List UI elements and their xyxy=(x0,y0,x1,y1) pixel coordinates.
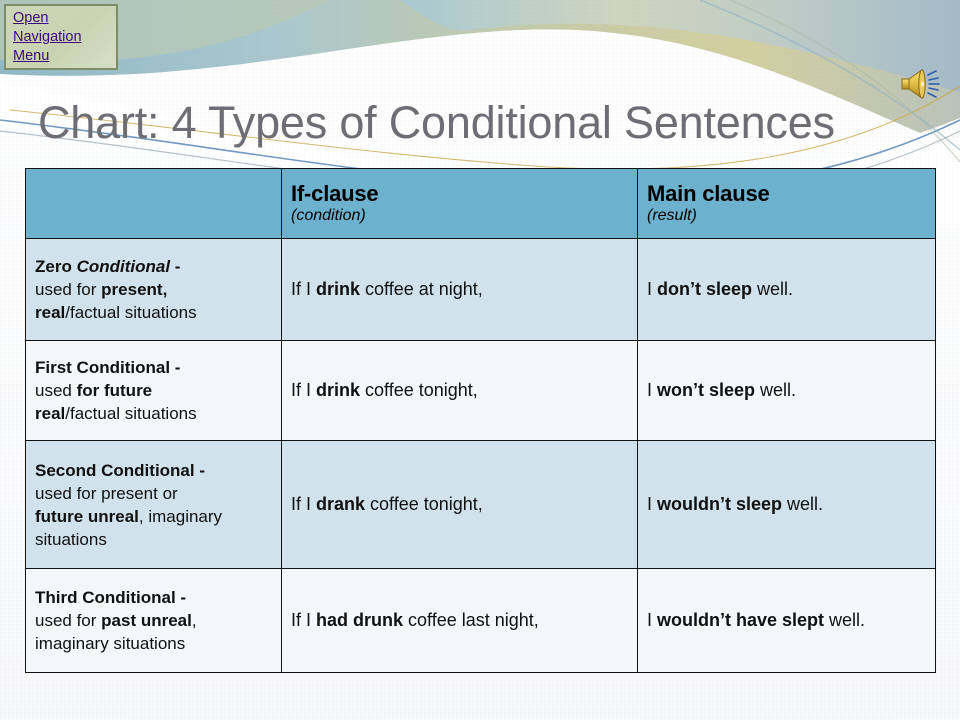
nav-label-line-3[interactable]: Menu xyxy=(13,47,116,66)
table-header: If-clause (condition) Main clause (resul… xyxy=(26,169,936,239)
speaker-icon[interactable] xyxy=(898,64,944,104)
header-if-clause-main: If-clause xyxy=(291,181,628,206)
main-bold: don’t sleep xyxy=(657,279,752,299)
table-row: Zero Conditional - used for present, rea… xyxy=(26,239,936,341)
header-main-clause-sub: (result) xyxy=(647,206,926,226)
slide-canvas: Open Navigation Menu Chart: 4 Types of C… xyxy=(0,0,960,720)
cell-type-first: First Conditional - used for future real… xyxy=(26,341,282,441)
table-row: First Conditional - used for future real… xyxy=(26,341,936,441)
if-bold: drank xyxy=(316,494,365,514)
table-row: Third Conditional - used for past unreal… xyxy=(26,569,936,673)
cell-if-clause-second: If I drank coffee tonight, xyxy=(282,441,638,569)
main-pre: I xyxy=(647,610,657,630)
cell-main-clause-zero: I don’t sleep well. xyxy=(638,239,936,341)
if-post: coffee tonight, xyxy=(365,494,483,514)
cell-main-clause-third: I wouldn’t have slept well. xyxy=(638,569,936,673)
cell-if-clause-third: If I had drunk coffee last night, xyxy=(282,569,638,673)
main-pre: I xyxy=(647,380,657,400)
main-pre: I xyxy=(647,279,657,299)
main-bold: won’t sleep xyxy=(657,380,755,400)
header-cell-type xyxy=(26,169,282,239)
desc-pre: used for xyxy=(35,611,101,630)
desc-post: /factual situations xyxy=(65,404,196,423)
cell-main-clause-second: I wouldn’t sleep well. xyxy=(638,441,936,569)
header-cell-if-clause: If-clause (condition) xyxy=(282,169,638,239)
desc-post: /factual situations xyxy=(65,303,196,322)
cell-if-clause-zero: If I drink coffee at night, xyxy=(282,239,638,341)
main-bold: wouldn’t have slept xyxy=(657,610,824,630)
cell-main-clause-first: I won’t sleep well. xyxy=(638,341,936,441)
desc-bold-1: future unreal xyxy=(35,507,139,526)
table-header-row: If-clause (condition) Main clause (resul… xyxy=(26,169,936,239)
table-row: Second Conditional - used for present or… xyxy=(26,441,936,569)
type-dash: - xyxy=(176,588,186,607)
if-bold: drink xyxy=(316,380,360,400)
page-title: Chart: 4 Types of Conditional Sentences xyxy=(38,95,938,153)
desc-bold-2: real xyxy=(35,303,65,322)
desc-bold-1: present, xyxy=(101,280,167,299)
nav-label-line-2[interactable]: Navigation xyxy=(13,28,116,47)
type-name: First Conditional xyxy=(35,358,170,377)
if-pre: If I xyxy=(291,380,316,400)
if-post: coffee at night, xyxy=(360,279,483,299)
desc-post-comma: , xyxy=(192,611,197,630)
table-body: Zero Conditional - used for present, rea… xyxy=(26,239,936,673)
desc-bold-2: real xyxy=(35,404,65,423)
type-dash: - xyxy=(195,461,205,480)
main-post: well. xyxy=(752,279,793,299)
main-post: well. xyxy=(824,610,865,630)
main-post: well. xyxy=(755,380,796,400)
if-pre: If I xyxy=(291,494,316,514)
desc-post: imaginary situations xyxy=(35,634,185,653)
type-name: Zero xyxy=(35,257,77,276)
main-bold: wouldn’t sleep xyxy=(657,494,782,514)
type-name: Third Conditional xyxy=(35,588,176,607)
if-bold: drink xyxy=(316,279,360,299)
desc-pre: used xyxy=(35,381,77,400)
type-dash: - xyxy=(170,257,180,276)
conditional-sentences-table: If-clause (condition) Main clause (resul… xyxy=(25,168,936,673)
header-cell-main-clause: Main clause (result) xyxy=(638,169,936,239)
cell-if-clause-first: If I drink coffee tonight, xyxy=(282,341,638,441)
type-dash: - xyxy=(170,358,180,377)
desc-pre: used for present or xyxy=(35,484,178,503)
if-pre: If I xyxy=(291,279,316,299)
header-if-clause-sub: (condition) xyxy=(291,206,628,226)
if-bold: had drunk xyxy=(316,610,403,630)
main-post: well. xyxy=(782,494,823,514)
cell-type-second: Second Conditional - used for present or… xyxy=(26,441,282,569)
cell-type-zero: Zero Conditional - used for present, rea… xyxy=(26,239,282,341)
header-main-clause-main: Main clause xyxy=(647,181,926,206)
if-post: coffee last night, xyxy=(403,610,539,630)
desc-bold-1: for future xyxy=(77,381,153,400)
main-pre: I xyxy=(647,494,657,514)
desc-bold-1: past unreal xyxy=(101,611,192,630)
type-name-italic: Conditional xyxy=(77,257,170,276)
if-post: coffee tonight, xyxy=(360,380,478,400)
cell-type-third: Third Conditional - used for past unreal… xyxy=(26,569,282,673)
desc-pre: used for xyxy=(35,280,101,299)
type-name: Second Conditional xyxy=(35,461,195,480)
nav-label-line-1[interactable]: Open xyxy=(13,9,116,28)
if-pre: If I xyxy=(291,610,316,630)
open-navigation-menu-button[interactable]: Open Navigation Menu xyxy=(4,4,118,70)
